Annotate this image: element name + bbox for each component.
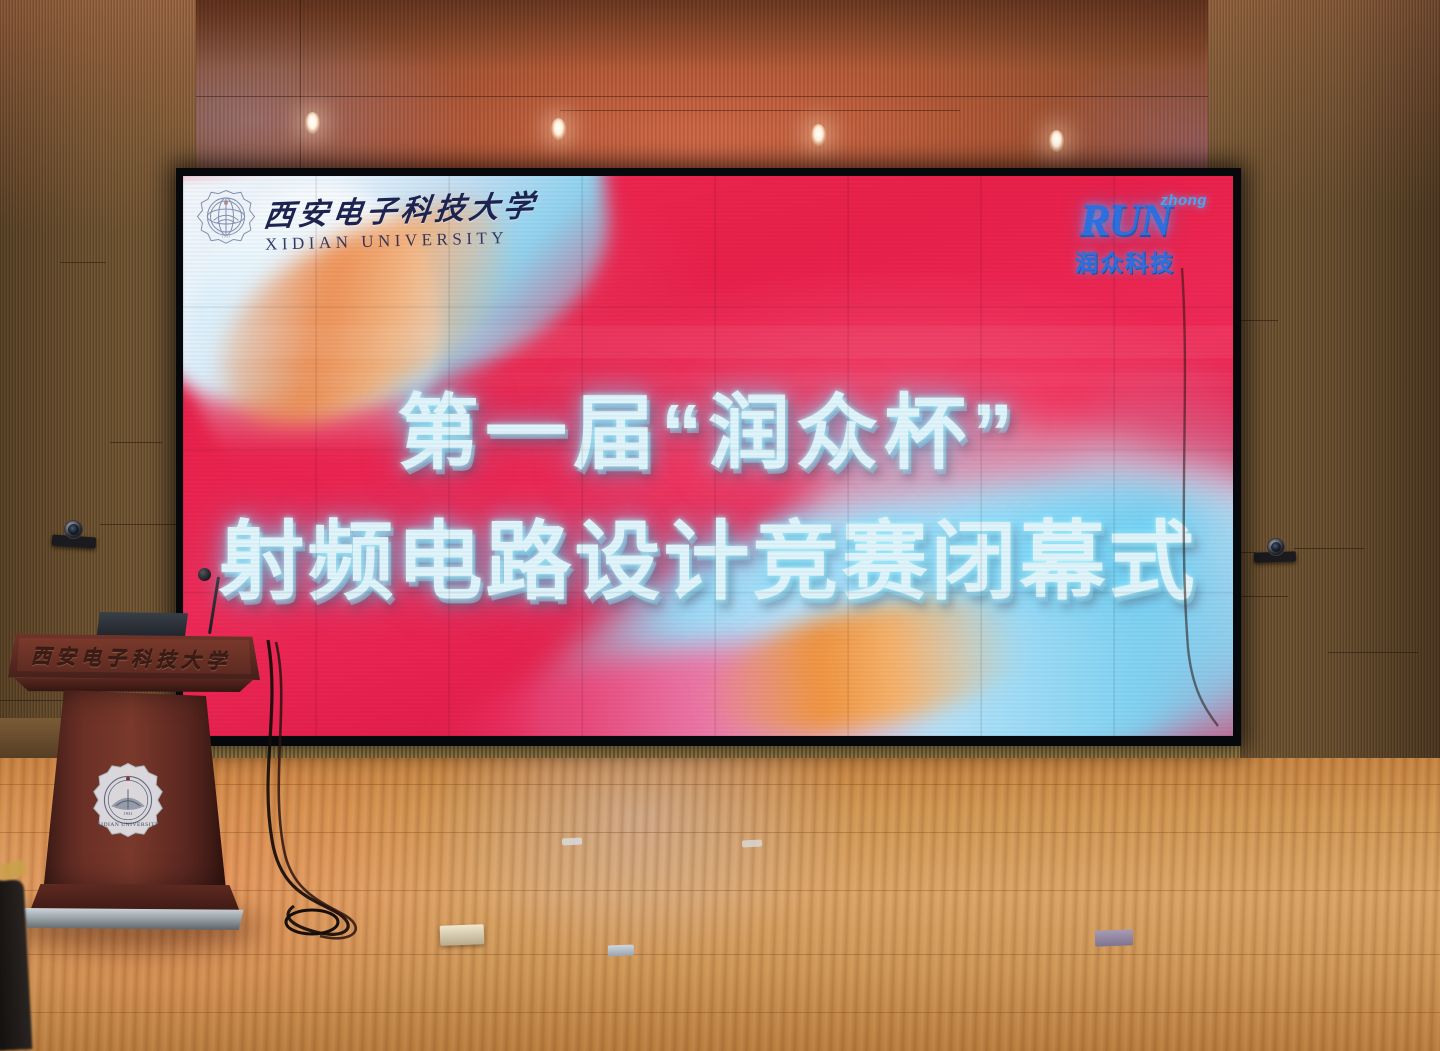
wall-seam <box>1294 548 1364 549</box>
svg-text:1931: 1931 <box>222 233 231 238</box>
lectern-base <box>30 884 240 912</box>
sponsor-logo-superscript: zhong <box>1160 192 1207 209</box>
floor-outlet-box <box>608 945 634 957</box>
floor-plank-line <box>0 954 1440 955</box>
university-name-cn: 西安电子科技大学 <box>262 181 541 235</box>
xidian-university-seal-icon: 1931 XIDIAN UNIVERSITY <box>90 762 166 838</box>
ceiling-seam <box>300 0 301 182</box>
floor-plank-line <box>0 1012 1440 1013</box>
university-name-block: 西安电子科技大学 XIDIAN UNIVERSITY <box>265 186 537 251</box>
ceiling-downlight-icon <box>811 124 826 146</box>
ptz-camera-right <box>1254 538 1302 566</box>
ptz-camera-left <box>52 520 102 550</box>
ceiling-downlight-icon <box>305 112 320 134</box>
ceiling-downlight-icon <box>551 118 566 140</box>
auditorium-stage-scene: 1931 西安电子科技大学 XIDIAN UNIVERSITY RUN zhon… <box>0 0 1440 1051</box>
floor-marker <box>742 839 762 847</box>
svg-text:1931: 1931 <box>123 811 132 816</box>
screen-power-cable <box>1174 268 1254 728</box>
xidian-university-emblem-icon: 1931 <box>195 188 257 250</box>
sponsor-logo: RUN zhong 润众科技 <box>1041 192 1209 278</box>
lectern-plinth <box>18 908 248 930</box>
banner-headline: 第一届“润众杯” 射频电路设计竞赛闭幕式 <box>183 366 1233 616</box>
camera-lens-icon <box>68 524 79 535</box>
camera-lens-icon <box>1271 542 1281 552</box>
floor-outlet-box <box>1095 929 1134 946</box>
gooseneck-microphone-icon <box>198 568 211 581</box>
sponsor-logo-mark: RUN zhong <box>1041 192 1209 250</box>
headline-line-2: 射频电路设计竞赛闭幕式 <box>183 491 1233 616</box>
headline-line-1: 第一届“润众杯” <box>183 366 1233 485</box>
wall-seam <box>100 524 180 525</box>
lectern-bevel <box>14 678 254 692</box>
lectern-engraved-text: 西安电子科技大学 <box>26 639 237 675</box>
wall-seam <box>1328 652 1418 653</box>
screen-banding <box>183 326 1233 358</box>
speaker-lectern[interactable]: 西安电子科技大学 1931 XIDIAN UNIVERSITY <box>8 612 260 942</box>
wall-seam <box>110 442 162 443</box>
ceiling-seam <box>560 110 960 111</box>
svg-text:XIDIAN UNIVERSITY: XIDIAN UNIVERSITY <box>97 822 160 828</box>
wall-seam <box>60 262 106 263</box>
audio-cable <box>250 640 410 970</box>
floor-marker <box>562 837 582 845</box>
university-lockup: 1931 西安电子科技大学 XIDIAN UNIVERSITY <box>195 186 537 251</box>
floor-outlet-box <box>440 924 485 946</box>
ceiling-downlight-icon <box>1049 130 1064 152</box>
